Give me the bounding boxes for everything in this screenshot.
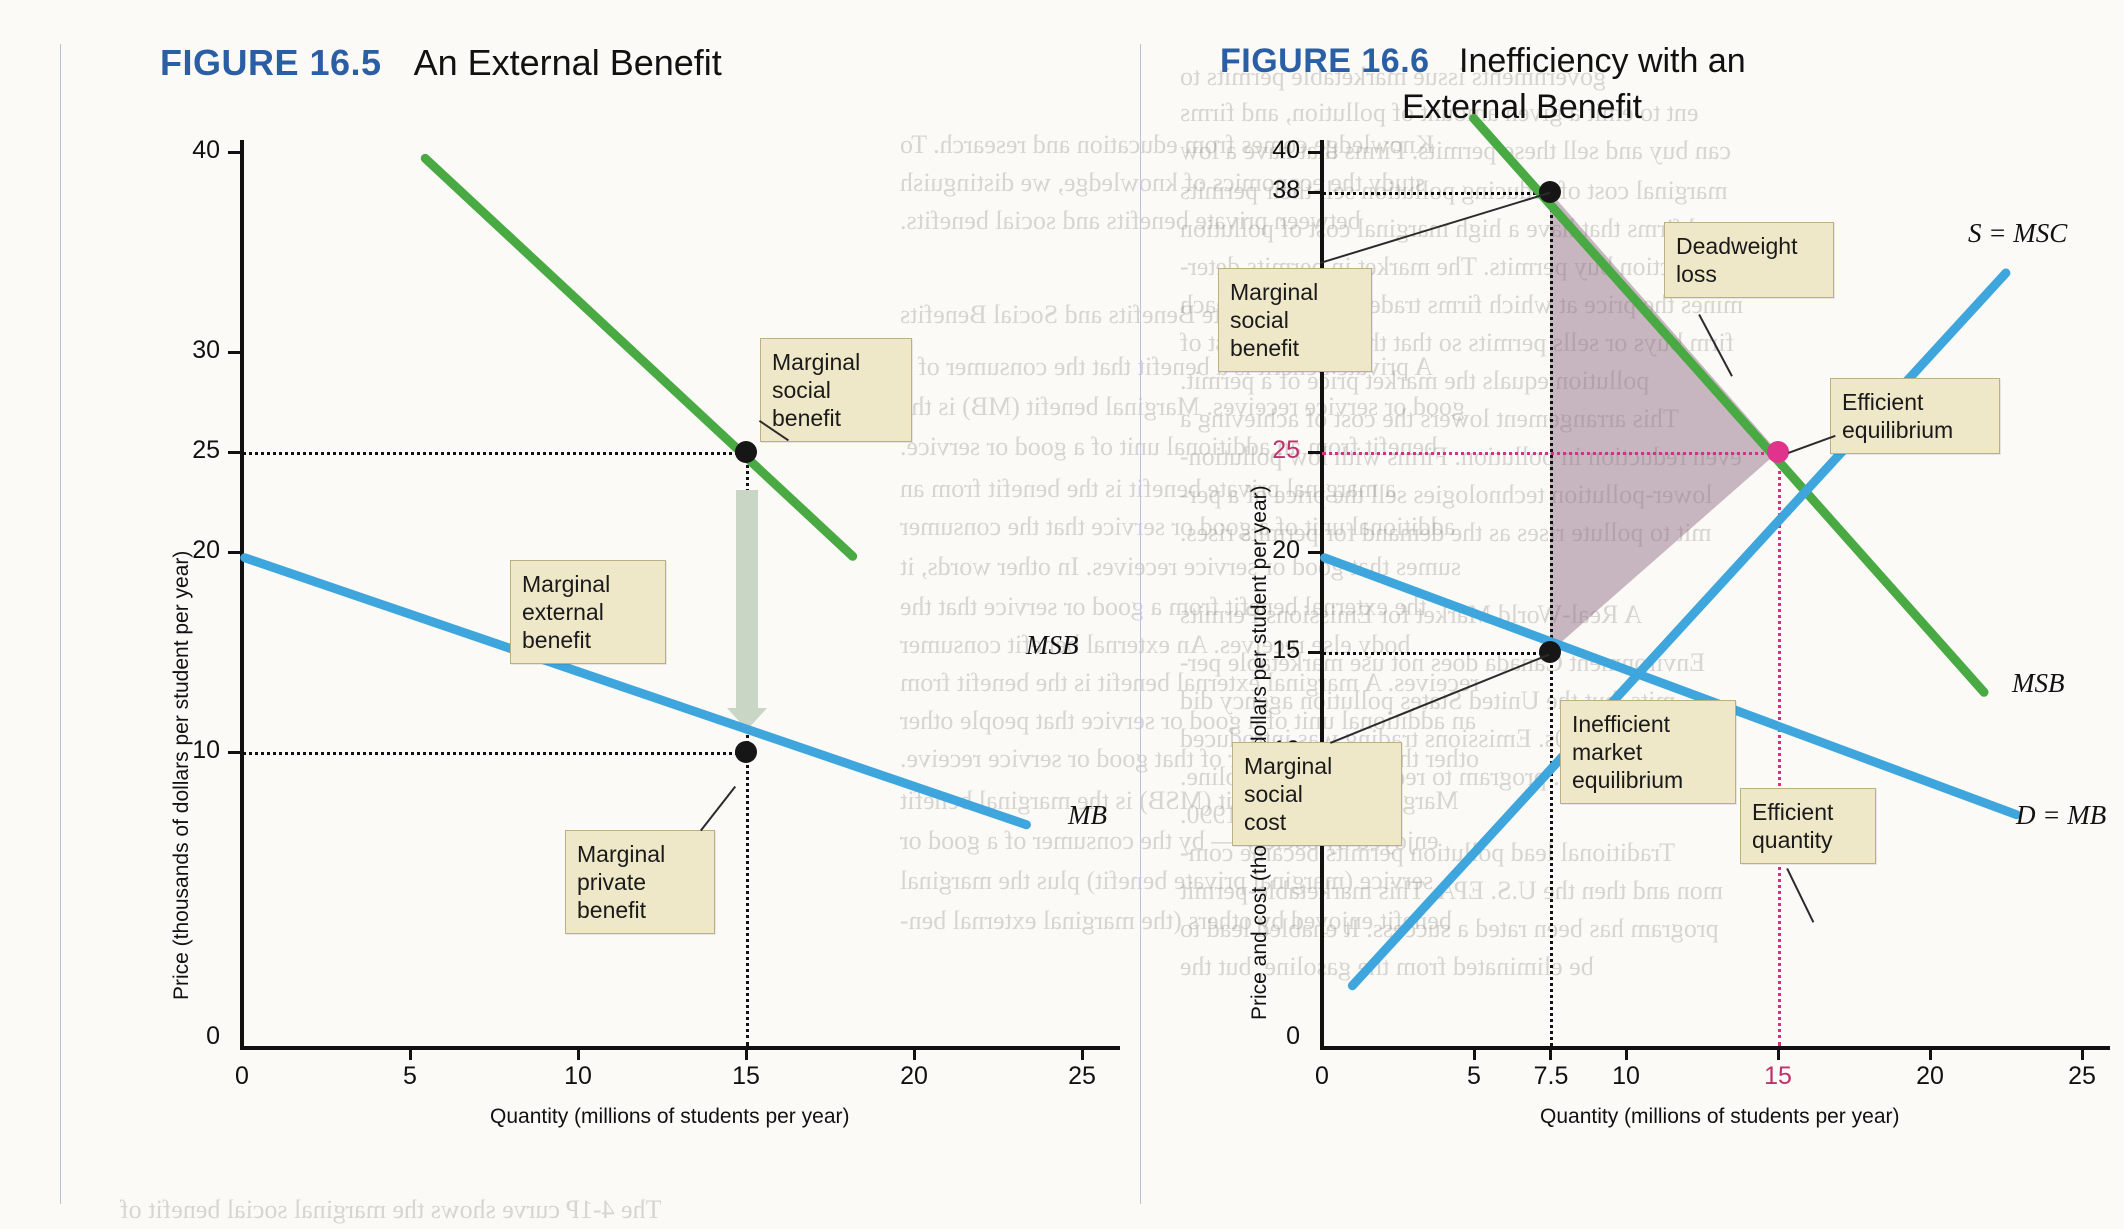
curve-label-msb: MSB (1026, 630, 1078, 661)
curve-label-d-mb: D = MB (2016, 800, 2106, 831)
figure-16-5: FIGURE 16.5 An External Benefit Price (t… (60, 0, 1120, 1229)
point-efficient-equilibrium (1767, 441, 1789, 463)
y-tick-25: 25 (1230, 436, 1300, 465)
x-tick-20: 20 (1900, 1062, 1960, 1091)
callout-efficient-quantity: Efficient quantity (1740, 788, 1876, 864)
point-inefficient-equilibrium (1539, 641, 1561, 663)
x-tickmark-20 (913, 1046, 916, 1060)
leader-msb-point (1320, 192, 1550, 264)
callout-line: Marginal (522, 570, 654, 598)
y-tick-30: 30 (150, 336, 220, 365)
x-tick-25: 25 (1052, 1062, 1112, 1091)
callout-line: market (1572, 738, 1724, 766)
callout-line: loss (1676, 260, 1822, 288)
y-tickmark-10 (228, 751, 242, 754)
callout-marginal-social-cost: Marginal social cost (1232, 742, 1402, 846)
x-tickmark-7-5 (1549, 1046, 1552, 1060)
callout-line: Marginal (577, 840, 703, 868)
x-tick-15: 15 (1748, 1062, 1808, 1091)
y-tickmark-40 (228, 151, 242, 154)
x-tick-5: 5 (380, 1062, 440, 1091)
callout-line: benefit (522, 626, 654, 654)
callout-deadweight-loss: Deadweight loss (1664, 222, 1834, 298)
y-tick-15: 15 (1230, 636, 1300, 665)
callout-line: private (577, 868, 703, 896)
x-axis (1320, 1046, 2110, 1050)
callout-line: Marginal (1230, 278, 1360, 306)
y-tickmark-20 (1308, 551, 1322, 554)
y-tickmark-30 (228, 351, 242, 354)
callout-line: benefit (577, 896, 703, 924)
callout-line: social (772, 376, 900, 404)
figure-16-5-plot: Price (thousands of dollars per student … (60, 0, 1120, 1160)
callout-line: Marginal (1244, 752, 1390, 780)
y-tick-20: 20 (1230, 536, 1300, 565)
point-msb-at-7-5 (1539, 181, 1561, 203)
x-tick-15: 15 (716, 1062, 776, 1091)
callout-line: Efficient (1842, 388, 1988, 416)
x-tick-20: 20 (884, 1062, 944, 1091)
x-tick-7-5: 7.5 (1518, 1062, 1584, 1091)
x-tickmark-5 (1473, 1046, 1476, 1060)
y-tickmark-25 (1308, 451, 1322, 454)
y-tick-25: 25 (150, 436, 220, 465)
callout-marginal-private-benefit: Marginal private benefit (565, 830, 715, 934)
figure-16-6: FIGURE 16.6 Inefficiency with an Externa… (1140, 0, 2110, 1229)
callout-line: quantity (1752, 826, 1864, 854)
x-tickmark-25 (1081, 1046, 1084, 1060)
callout-marginal-external-benefit: Marginal external benefit (510, 560, 666, 664)
x-tickmark-10 (577, 1046, 580, 1060)
curve-label-mb: MB (1068, 800, 1107, 831)
callout-line: Inefficient (1572, 710, 1724, 738)
leader-efficient-eq (1788, 435, 1835, 454)
x-tick-10: 10 (548, 1062, 608, 1091)
curve-label-s-msc: S = MSC (1968, 218, 2067, 249)
x-axis-label: Quantity (millions of students per year) (490, 1105, 849, 1129)
ref-line-h-25 (1322, 452, 1778, 455)
point-msb-15 (735, 441, 757, 463)
x-tick-25: 25 (2052, 1062, 2112, 1091)
x-tick-0: 0 (212, 1062, 272, 1091)
callout-line: Deadweight (1676, 232, 1822, 260)
point-mb-15 (735, 741, 757, 763)
callout-line: equilibrium (1572, 766, 1724, 794)
y-tick-40: 40 (150, 136, 220, 165)
y-tick-40: 40 (1230, 136, 1300, 165)
y-tick-0: 0 (150, 1022, 220, 1051)
x-tick-10: 10 (1596, 1062, 1656, 1091)
callout-marginal-social-benefit: Marginal social benefit (1218, 268, 1372, 372)
x-tick-5: 5 (1444, 1062, 1504, 1091)
y-tick-20: 20 (150, 536, 220, 565)
callout-line: equilibrium (1842, 416, 1988, 444)
callout-line: Marginal (772, 348, 900, 376)
x-axis-label: Quantity (millions of students per year) (1540, 1105, 1899, 1129)
ref-line-h-15 (1322, 652, 1550, 655)
y-tick-10: 10 (150, 736, 220, 765)
y-tickmark-38 (1308, 191, 1322, 194)
leader-mpb (700, 786, 736, 831)
x-tick-0: 0 (1292, 1062, 1352, 1091)
ref-line-v-15 (1778, 452, 1781, 1046)
x-axis (240, 1046, 1120, 1050)
callout-line: social (1244, 780, 1390, 808)
ref-line-v-7-5 (1550, 192, 1553, 1046)
figure-16-6-plot: Price and cost (thousands of dollars per… (1140, 0, 2110, 1160)
y-axis (240, 140, 244, 1050)
ref-line-h-38 (1322, 192, 1550, 195)
y-tickmark-20 (228, 551, 242, 554)
callout-line: benefit (1230, 334, 1360, 362)
callout-inefficient-market-equilibrium: Inefficient market equilibrium (1560, 700, 1736, 804)
y-tickmark-25 (228, 451, 242, 454)
callout-line: social (1230, 306, 1360, 334)
callout-marginal-social-benefit: Marginal social benefit (760, 338, 912, 442)
x-tickmark-10 (1625, 1046, 1628, 1060)
ref-line-h-25 (242, 452, 746, 455)
y-tickmark-15 (1308, 651, 1322, 654)
y-tick-38: 38 (1230, 176, 1300, 205)
callout-line: cost (1244, 808, 1390, 836)
x-tickmark-5 (409, 1046, 412, 1060)
curve-label-msb: MSB (2012, 668, 2064, 699)
x-tickmark-20 (1929, 1046, 1932, 1060)
x-tickmark-15 (1777, 1046, 1780, 1060)
callout-line: benefit (772, 404, 900, 432)
external-benefit-arrow (736, 490, 758, 710)
callout-line: Efficient (1752, 798, 1864, 826)
y-tick-0: 0 (1230, 1022, 1300, 1051)
y-tickmark-40 (1308, 151, 1322, 154)
leader-efficient-qty (1787, 868, 1815, 923)
x-tickmark-25 (2081, 1046, 2084, 1060)
callout-efficient-equilibrium: Efficient equilibrium (1830, 378, 2000, 454)
y-axis-label: Price (thousands of dollars per student … (170, 551, 194, 1000)
ref-line-h-10 (242, 752, 746, 755)
leader-msc (1330, 654, 1549, 744)
x-tickmark-15 (745, 1046, 748, 1060)
callout-line: external (522, 598, 654, 626)
